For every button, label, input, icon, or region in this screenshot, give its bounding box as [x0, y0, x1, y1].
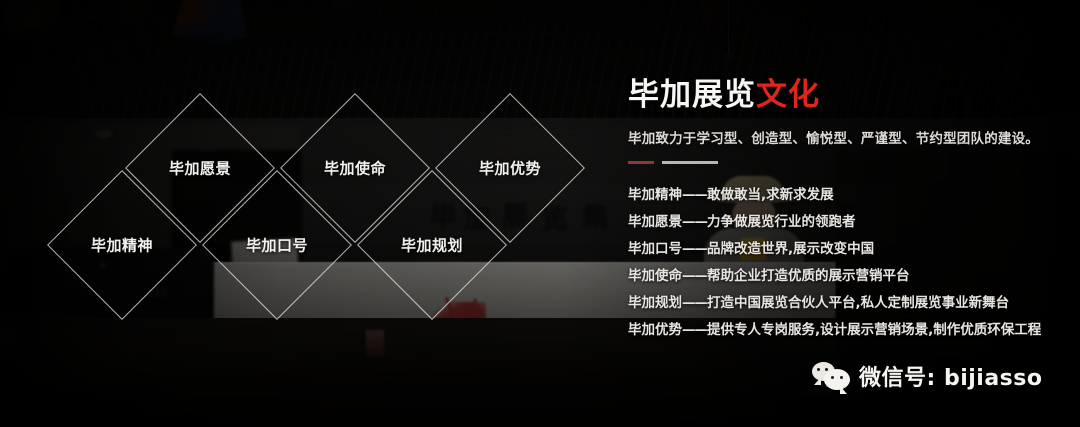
bullet-term: 毕加使命 [628, 268, 682, 284]
title-main: 毕加展览 [628, 77, 756, 113]
text-panel: 毕加展览文化 毕加致力于学习型、创造型、愉悦型、严谨型、节约型团队的建设。 毕加… [628, 78, 1068, 344]
diamond-label-vision: 毕加愿景 [169, 158, 231, 179]
diamond-label-slogan: 毕加口号 [246, 235, 308, 256]
bullet-dash: —— [682, 322, 707, 338]
bullet-term: 毕加口号 [628, 241, 682, 257]
list-item: 毕加优势——提供专人专岗服务,设计展示营销场景,制作优质环保工程 [628, 317, 1068, 344]
wechat-watermark: 微信号: bijiasso [812, 360, 1042, 392]
slide-canvas: 毕 加 展 览 集 ★ 123 · [0, 0, 1080, 427]
list-item: 毕加精神——敢做敢当,求新求发展 [628, 182, 1068, 209]
bullet-desc: 打造中国展览合伙人平台,私人定制展览事业新舞台 [707, 295, 1009, 311]
list-item: 毕加愿景——力争做展览行业的领跑者 [628, 209, 1068, 236]
bullet-desc: 品牌改造世界,展示改变中国 [707, 241, 874, 257]
bullet-term: 毕加精神 [628, 187, 682, 203]
divider [628, 161, 1068, 164]
bullet-term: 毕加优势 [628, 322, 682, 338]
bullet-dash: —— [682, 187, 707, 203]
wechat-id-text: 微信号: bijiasso [859, 360, 1042, 392]
bullet-term: 毕加规划 [628, 295, 682, 311]
bullet-desc: 帮助企业打造优质的展示营销平台 [707, 268, 910, 284]
bullet-desc: 力争做展览行业的领跑者 [707, 214, 856, 230]
bullet-dash: —— [682, 214, 707, 230]
divider-gray-segment [662, 161, 718, 164]
bullet-list: 毕加精神——敢做敢当,求新求发展 毕加愿景——力争做展览行业的领跑者 毕加口号—… [628, 182, 1068, 344]
diamond-label-advantage: 毕加优势 [479, 158, 541, 179]
list-item: 毕加使命——帮助企业打造优质的展示营销平台 [628, 263, 1068, 290]
bullet-desc: 敢做敢当,求新求发展 [707, 187, 834, 203]
title-accent: 文化 [756, 77, 820, 113]
bullet-dash: —— [682, 241, 707, 257]
diamond-label-spirit: 毕加精神 [91, 235, 153, 256]
page-title: 毕加展览文化 [628, 78, 1068, 113]
list-item: 毕加规划——打造中国展览合伙人平台,私人定制展览事业新舞台 [628, 290, 1068, 317]
bullet-dash: —— [682, 295, 707, 311]
divider-red-segment [628, 161, 654, 164]
bullet-dash: —— [682, 268, 707, 284]
subtitle: 毕加致力于学习型、创造型、愉悦型、严谨型、节约型团队的建设。 [628, 127, 1068, 147]
bullet-term: 毕加愿景 [628, 214, 682, 230]
bullet-desc: 提供专人专岗服务,设计展示营销场景,制作优质环保工程 [707, 322, 1041, 338]
diamond-label-mission: 毕加使命 [324, 158, 386, 179]
wechat-icon [812, 362, 850, 390]
diamond-label-plan: 毕加规划 [401, 235, 463, 256]
list-item: 毕加口号——品牌改造世界,展示改变中国 [628, 236, 1068, 263]
